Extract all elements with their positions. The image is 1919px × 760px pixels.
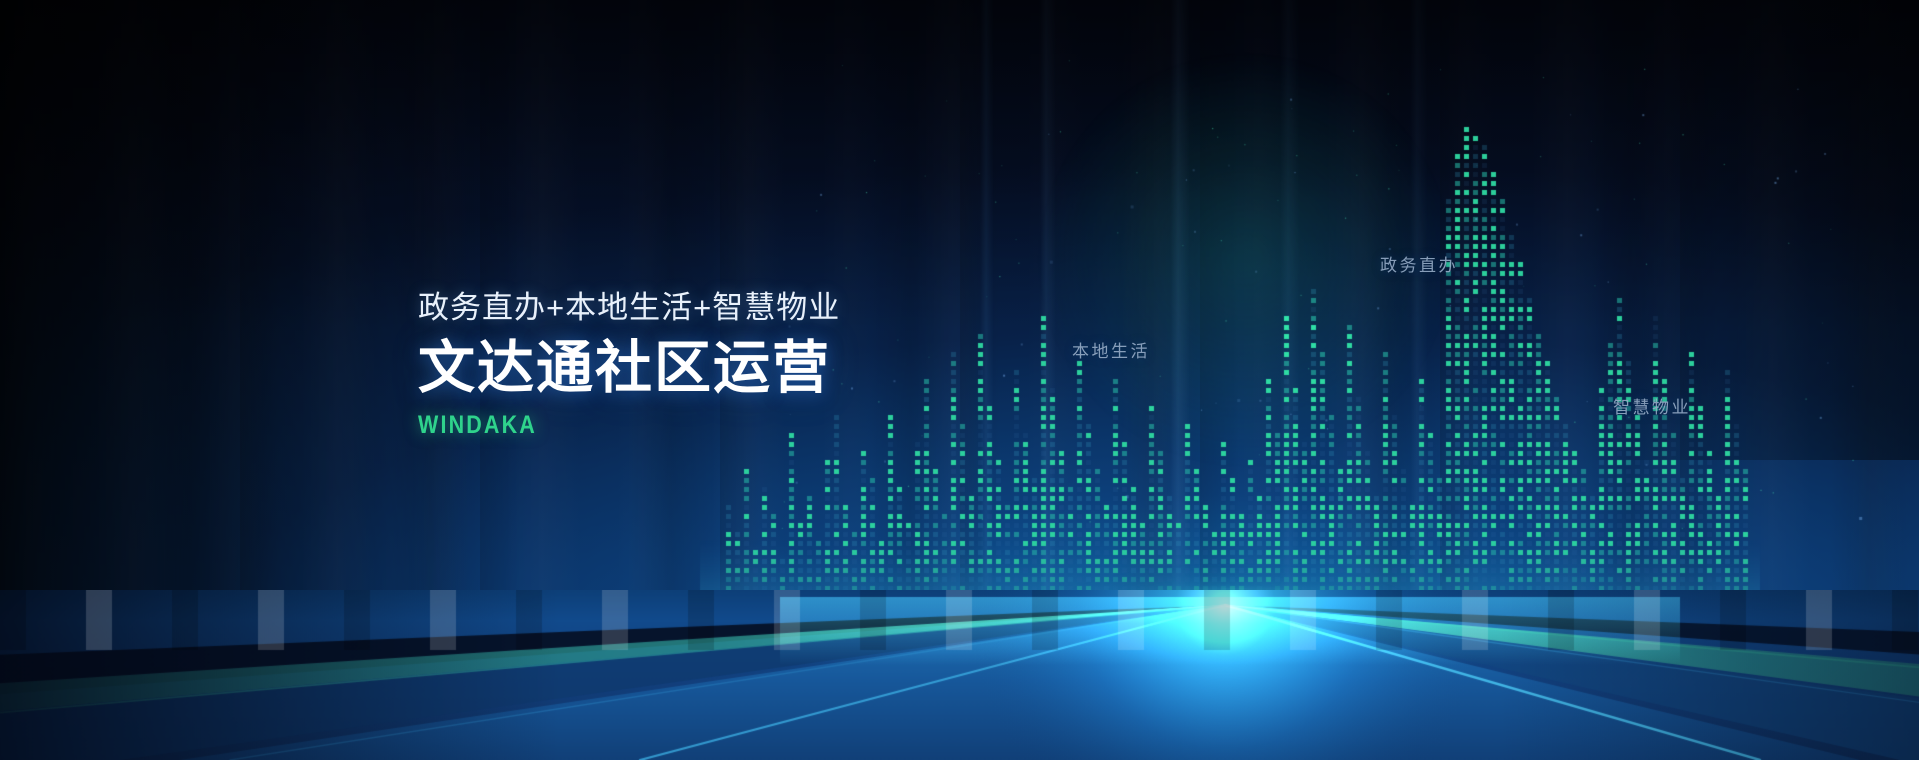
hero-text-block: 政务直办+本地生活+智慧物业 文达通社区运营 WINDAKA bbox=[418, 292, 840, 440]
hero-banner: 政务直办+本地生活+智慧物业 文达通社区运营 WINDAKA 政务直办 本地生活… bbox=[0, 0, 1919, 760]
skyline-label-bendishenghuo: 本地生活 bbox=[1072, 337, 1150, 362]
perspective-road bbox=[0, 590, 1919, 760]
skyline-label-zhengwuzhiban: 政务直办 bbox=[1380, 251, 1458, 276]
skyline-label-zhihuiwuye: 智慧物业 bbox=[1613, 393, 1691, 418]
hero-subtitle: 政务直办+本地生活+智慧物业 bbox=[418, 292, 840, 323]
brand-wordmark: WINDAKA bbox=[418, 411, 781, 440]
hero-title: 文达通社区运营 bbox=[418, 337, 840, 401]
